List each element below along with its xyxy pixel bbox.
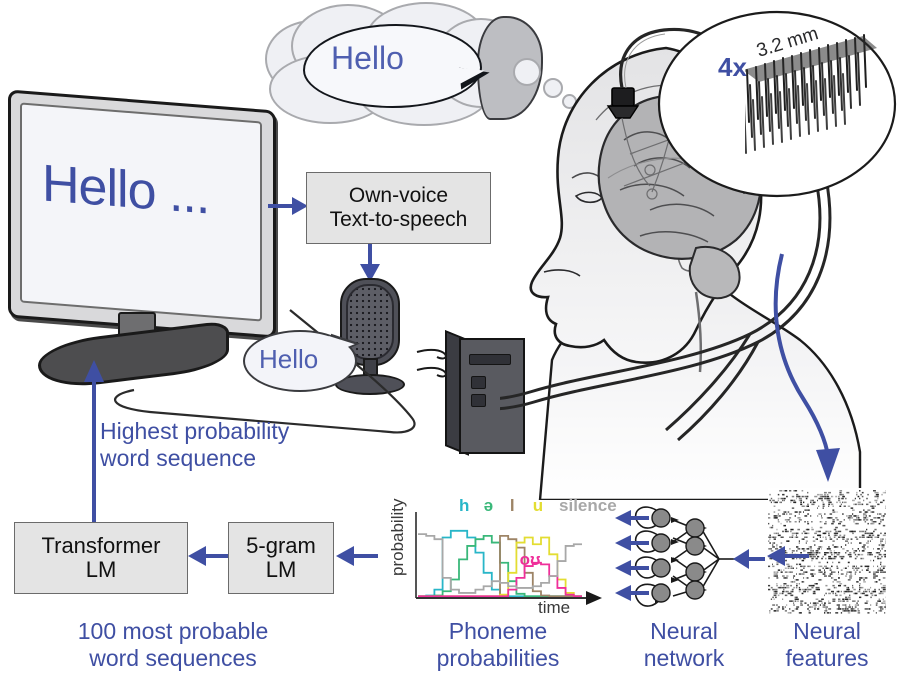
speech-bubble-tail-fill	[326, 336, 356, 360]
tts-line-1: Own-voice	[349, 184, 448, 208]
nn-output-arrow	[629, 518, 649, 593]
chart-xlabel: time	[538, 598, 608, 620]
caption-100-sequences: 100 most probableword sequences	[30, 618, 316, 671]
tts-line-2: Text-to-speech	[330, 208, 468, 232]
phoneme-label-ə: ə	[484, 496, 493, 516]
caption-phoneme-probabilities: Phonemeprobabilities	[398, 618, 598, 671]
nn-node	[652, 509, 704, 602]
phoneme-label-l: l	[510, 496, 515, 516]
phoneme-probability-chart: probability həluoʊsilence time	[378, 498, 610, 616]
phoneme-label-oʊ: oʊ	[520, 550, 541, 570]
arrow-5gram-to-transformer	[186, 540, 232, 572]
thought-bubble-text: Hello	[331, 40, 404, 77]
nn-input-arrow	[733, 549, 765, 569]
chart-ylabel: probability	[388, 484, 408, 576]
fivegram-line-1: 5-gram	[246, 534, 316, 558]
phoneme-label-silence: silence	[559, 496, 617, 516]
tower-slot	[471, 394, 486, 407]
own-voice-tts-box[interactable]: Own-voice Text-to-speech	[306, 172, 491, 244]
arrow-phonemes-to-5gram	[334, 540, 380, 572]
five-gram-lm-box[interactable]: 5-gram LM	[228, 522, 334, 594]
transformer-lm-box[interactable]: Transformer LM	[14, 522, 188, 594]
phoneme-label-h: h	[459, 496, 469, 516]
voice-output-bubble: Hello	[243, 330, 355, 392]
fivegram-line-2: LM	[266, 558, 297, 582]
transformer-line-1: Transformer	[42, 534, 161, 558]
caption-highest-probability: Highest probabilityword sequence	[100, 418, 340, 471]
caption-neural-network: Neuralnetwork	[608, 618, 760, 671]
arrow-features-to-network	[765, 540, 811, 572]
arrow-brain-to-neural-features	[760, 250, 870, 490]
tower-cable-connectors	[415, 340, 475, 390]
caption-neural-features: Neuralfeatures	[760, 618, 894, 671]
figure-canvas: Hello ... Hello Own-voice Text-to-speech	[0, 0, 900, 697]
transformer-line-2: LM	[86, 558, 117, 582]
thought-bubble-tail-fill	[457, 65, 486, 85]
phoneme-label-u: u	[533, 496, 543, 516]
recurrent-neural-network-diagram	[615, 498, 765, 620]
arrow-monitor-to-tts	[266, 190, 310, 222]
speech-bubble-text: Hello	[259, 344, 318, 375]
